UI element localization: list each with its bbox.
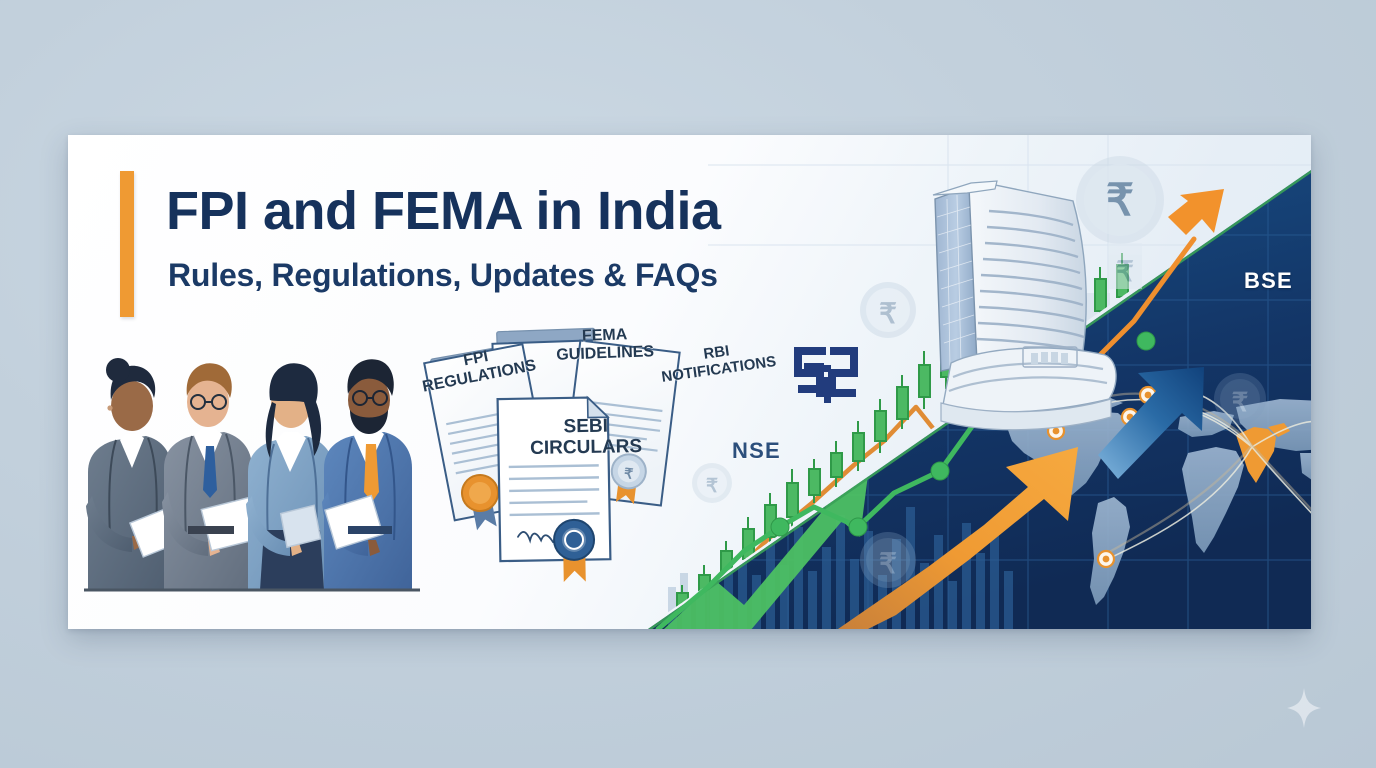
stock-exchange-building <box>923 155 1138 465</box>
person-3 <box>246 363 334 590</box>
business-professionals-illustration <box>76 340 428 610</box>
page-title: FPI and FEMA in India <box>166 183 721 239</box>
accent-bar <box>120 171 134 317</box>
sebi-logo <box>786 343 870 415</box>
sparkle-decoration <box>1287 688 1321 728</box>
exchange-label-nse: NSE <box>732 438 781 464</box>
page-subtitle: Rules, Regulations, Updates & FAQs <box>168 257 718 294</box>
banner-card: ₹ ₹ ₹ ₹ ₹ <box>68 135 1311 629</box>
person-4 <box>322 359 412 590</box>
documents-stack-illustration: ₹ <box>413 320 703 595</box>
exchange-label-bse: BSE <box>1244 268 1293 294</box>
